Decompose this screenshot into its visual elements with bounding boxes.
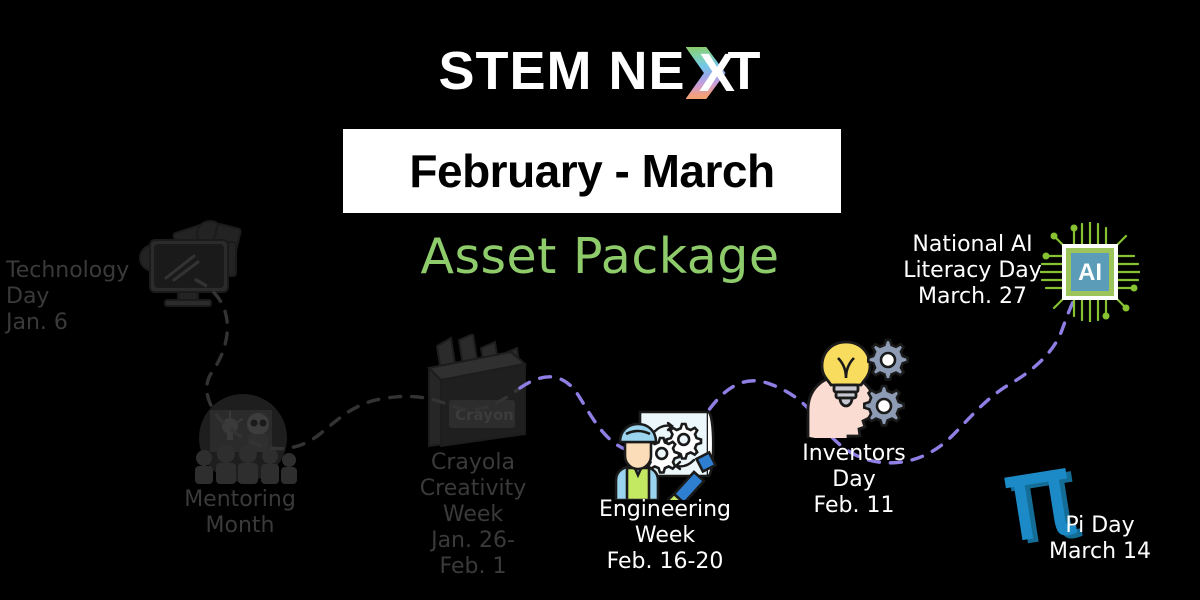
milestone-label-engineering-week: Engineering Week Feb. 16-20 bbox=[580, 497, 750, 575]
logo-x-chevron: X bbox=[686, 45, 728, 101]
date-range-banner: February - March bbox=[343, 129, 841, 213]
stem-next-logo: STEM NEXT bbox=[0, 44, 1200, 101]
logo-text-primary: STEM NE bbox=[438, 41, 685, 101]
poster-canvas: Crayon bbox=[0, 0, 1200, 600]
milestone-label-technology-day: Technology Day Jan. 6 bbox=[6, 258, 166, 336]
milestone-label-national-ai-literacy-day: National AI Literacy Day March. 27 bbox=[890, 232, 1055, 310]
lightbulb-head-gears-icon bbox=[800, 334, 920, 438]
logo-x-letter: X bbox=[698, 47, 738, 99]
milestone-label-pi-day: Pi Day March 14 bbox=[1020, 513, 1180, 565]
date-range-text: February - March bbox=[409, 144, 774, 198]
milestone-label-mentoring-month: Mentoring Month bbox=[160, 487, 320, 539]
milestone-label-inventors-day: Inventors Day Feb. 11 bbox=[779, 441, 929, 519]
engineer-blueprint-icon bbox=[596, 398, 726, 500]
milestone-label-crayola-creativity-week: Crayola Creativity Week Jan. 26- Feb. 1 bbox=[398, 450, 548, 580]
